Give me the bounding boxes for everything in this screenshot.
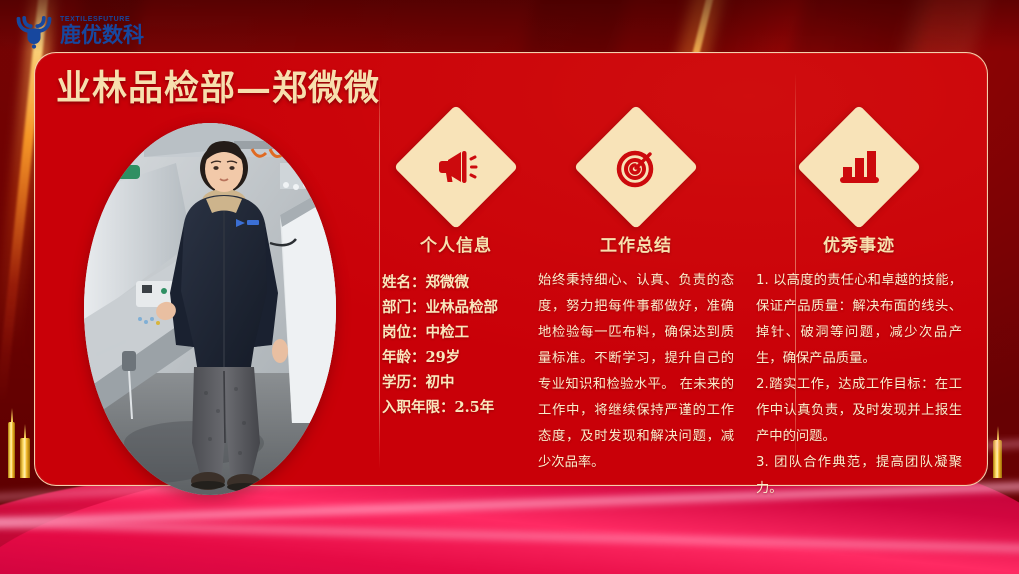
info-row-dept: 部门：业林品检部 [382, 295, 540, 320]
column-achievements: 优秀事迹 1. 以高度的责任心和卓越的技能，保证产品质量：解决布面的线头、掉针、… [756, 123, 962, 502]
presentation-slide: TEXTILESFUTURE 鹿优数科 业林品检部—郑微微 [0, 0, 1019, 574]
diamond-badge-1 [394, 105, 518, 229]
column-work-summary: 工作总结 始终秉持细心、认真、负责的态度，努力把每件事都做好，准确地检验每一匹布… [538, 123, 734, 476]
top-shade [0, 0, 1019, 52]
paragraph: 始终秉持细心、认真、负责的态度，努力把每件事都做好，准确地检验每一匹布料，确保达… [538, 268, 734, 476]
column-heading: 个人信息 [372, 231, 540, 256]
info-row-post: 岗位：中检工 [382, 320, 540, 345]
diamond-badge-2 [574, 105, 698, 229]
paragraph: 1. 以高度的责任心和卓越的技能，保证产品质量：解决布面的线头、掉针、破洞等问题… [756, 268, 962, 372]
info-row-age: 年龄：29岁 [382, 345, 540, 370]
brand-cn-name: 鹿优数科 [60, 25, 144, 46]
column-heading: 工作总结 [538, 231, 734, 256]
bar-chart-icon [837, 147, 881, 187]
paragraph: 3. 团队合作典范，提高团队凝聚力。 [756, 450, 962, 502]
column-heading: 优秀事迹 [756, 231, 962, 256]
info-row-tenure: 入职年限：2.5年 [382, 395, 540, 420]
info-row-edu: 学历：初中 [382, 370, 540, 395]
column-personal-info: 个人信息 姓名：郑微微 部门：业林品检部 岗位：中检工 年龄：29岁 学历：初中… [372, 123, 540, 420]
achievements-body: 1. 以高度的责任心和卓越的技能，保证产品质量：解决布面的线头、掉针、破洞等问题… [756, 268, 962, 502]
personal-info-list: 姓名：郑微微 部门：业林品检部 岗位：中检工 年龄：29岁 学历：初中 入职年限… [372, 270, 540, 420]
megaphone-icon [434, 147, 478, 187]
paragraph: 2.踏实工作，达成工作目标：在工作中认真负责，及时发现并上报生产中的问题。 [756, 372, 962, 450]
diamond-badge-3 [797, 105, 921, 229]
employee-portrait [84, 123, 336, 495]
work-summary-body: 始终秉持细心、认真、负责的态度，努力把每件事都做好，准确地检验每一匹布料，确保达… [538, 268, 734, 476]
target-icon [614, 145, 658, 189]
brand-logo[interactable]: TEXTILESFUTURE 鹿优数科 [14, 13, 144, 49]
info-row-name: 姓名：郑微微 [382, 270, 540, 295]
ox-head-logo-icon [14, 13, 54, 49]
brand-en-name: TEXTILESFUTURE [60, 16, 144, 23]
page-title: 业林品检部—郑微微 [56, 60, 380, 111]
